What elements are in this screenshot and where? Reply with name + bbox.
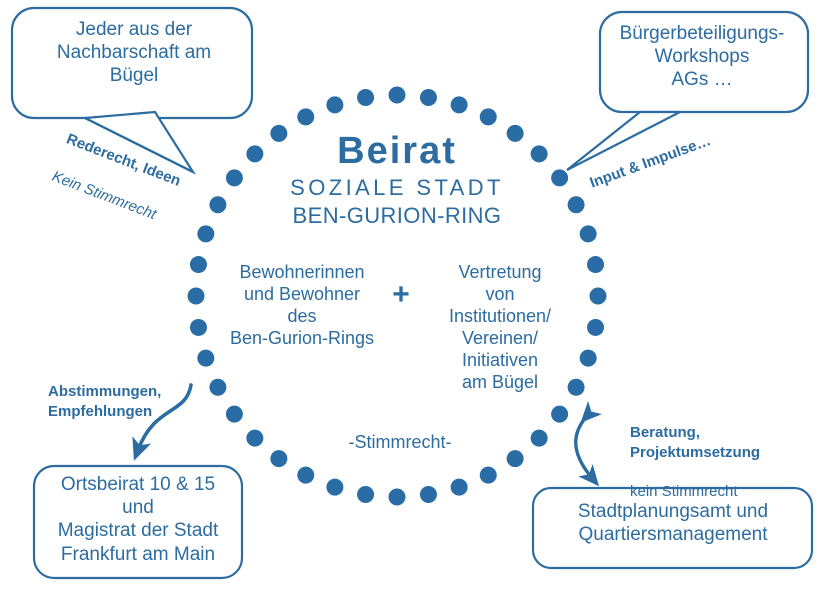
ring-dot: [480, 467, 497, 484]
ring-dot: [551, 406, 568, 423]
ring-dot: [357, 486, 374, 503]
ring-dot: [389, 489, 406, 506]
diagram-canvas: Jeder aus der Nachbarschaft am Bügel Bür…: [0, 0, 820, 600]
annotation-beratung-strong: Beratung, Projektumsetzung: [630, 423, 760, 461]
ring-dot: [587, 256, 604, 273]
annotation-beratung: Beratung, Projektumsetzung kein Stimmrec…: [630, 403, 760, 522]
ring-dot: [531, 430, 548, 447]
annotation-abstimmungen: Abstimmungen, Empfehlungen: [48, 362, 161, 441]
bubble-top-right-text: Bürgerbeteiligungs- Workshops AGs …: [604, 22, 800, 92]
ring-dot: [420, 89, 437, 106]
ring-dot: [326, 96, 343, 113]
ring-dot: [326, 479, 343, 496]
ring-dot: [568, 196, 585, 213]
members-institutions: Vertretung von Institutionen/ Vereinen/ …: [420, 262, 580, 394]
members-residents: Bewohnerinnen und Bewohner des Ben-Gurio…: [212, 262, 392, 350]
subtitle-ben-gurion-ring: BEN-GURION-RING: [237, 203, 557, 230]
annotation-abstimmungen-strong: Abstimmungen, Empfehlungen: [48, 382, 161, 420]
ring-dot: [197, 225, 214, 242]
ring-dot: [190, 319, 207, 336]
ring-dot: [297, 108, 314, 125]
ring-dot: [297, 467, 314, 484]
bubble-top-left-text: Jeder aus der Nachbarschaft am Bügel: [30, 18, 238, 88]
box-bottom-left-text: Ortsbeirat 10 & 15 und Magistrat der Sta…: [40, 473, 236, 566]
ring-dot: [226, 406, 243, 423]
ring-dot: [580, 225, 597, 242]
ring-dot: [357, 89, 374, 106]
ring-dot: [587, 319, 604, 336]
ring-dot: [209, 196, 226, 213]
subtitle-soziale-stadt: SOZIALE STADT: [237, 175, 557, 202]
voting-rights-note: -Stimmrecht-: [300, 432, 500, 454]
ring-dot: [188, 288, 205, 305]
ring-dot: [507, 450, 524, 467]
ring-dot: [590, 288, 607, 305]
arrow-beratung: [576, 415, 592, 478]
ring-dot: [270, 450, 287, 467]
page-title: Beirat: [237, 128, 557, 174]
ring-dot: [451, 96, 468, 113]
ring-dot: [197, 350, 214, 367]
ring-dot: [389, 87, 406, 104]
ring-dot: [209, 379, 226, 396]
ring-dot: [451, 479, 468, 496]
ring-dot: [420, 486, 437, 503]
ring-dot: [190, 256, 207, 273]
ring-dot: [480, 108, 497, 125]
plus-icon: +: [387, 277, 415, 314]
annotation-beratung-regular: kein Stimmrecht: [630, 482, 760, 501]
ring-dot: [580, 350, 597, 367]
ring-dot: [246, 430, 263, 447]
